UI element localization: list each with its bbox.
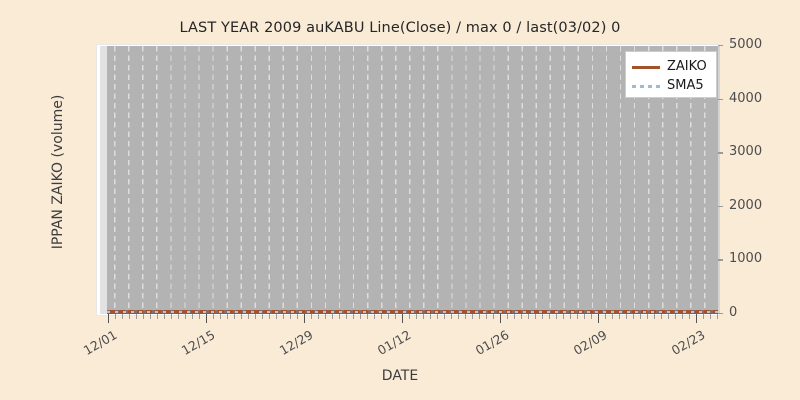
x-tick-minor bbox=[122, 314, 123, 319]
x-tick-minor bbox=[493, 314, 494, 319]
x-tick-minor bbox=[192, 314, 193, 319]
x-tick-minor bbox=[346, 314, 347, 319]
x-tick-minor bbox=[290, 314, 291, 319]
x-tick-minor bbox=[171, 314, 172, 319]
x-tick-major bbox=[206, 314, 207, 323]
x-tick-minor bbox=[689, 314, 690, 319]
chart-legend[interactable]: ZAIKO SMA5 bbox=[625, 51, 717, 98]
x-tick-minor bbox=[199, 314, 200, 319]
x-tick-minor bbox=[556, 314, 557, 319]
x-tick-label: 02/09 bbox=[560, 327, 609, 364]
x-tick-minor bbox=[213, 314, 214, 319]
legend-label-zaiko: ZAIKO bbox=[667, 59, 707, 74]
x-tick-minor bbox=[535, 314, 536, 319]
x-tick-minor bbox=[283, 314, 284, 319]
x-tick-minor bbox=[234, 314, 235, 319]
x-tick-minor bbox=[577, 314, 578, 319]
x-tick-minor bbox=[136, 314, 137, 319]
legend-item-sma5[interactable]: SMA5 bbox=[632, 76, 710, 95]
x-tick-label: 12/15 bbox=[168, 327, 217, 364]
x-tick-minor bbox=[430, 314, 431, 319]
x-tick-minor bbox=[325, 314, 326, 319]
x-tick-minor bbox=[297, 314, 298, 319]
x-tick-minor bbox=[605, 314, 606, 319]
x-axis: 12/0112/1512/2901/1201/2602/0902/23 bbox=[100, 314, 718, 374]
y-tick-label: 5000 bbox=[729, 37, 762, 52]
x-tick-minor bbox=[654, 314, 655, 319]
chart-title: LAST YEAR 2009 auKABU Line(Close) / max … bbox=[0, 20, 800, 36]
x-tick-minor bbox=[626, 314, 627, 319]
x-tick-minor bbox=[591, 314, 592, 319]
x-tick-minor bbox=[619, 314, 620, 319]
x-tick-minor bbox=[528, 314, 529, 319]
x-tick-major bbox=[598, 314, 599, 323]
x-tick-minor bbox=[416, 314, 417, 319]
x-tick-minor bbox=[675, 314, 676, 319]
x-tick-minor bbox=[395, 314, 396, 319]
x-axis-label: DATE bbox=[0, 368, 800, 384]
x-tick-minor bbox=[521, 314, 522, 319]
x-tick-minor bbox=[178, 314, 179, 319]
x-tick-minor bbox=[129, 314, 130, 319]
y-tick-mark bbox=[718, 99, 723, 100]
y-tick-mark bbox=[718, 206, 723, 207]
x-tick-minor bbox=[486, 314, 487, 319]
chart-figure: LAST YEAR 2009 auKABU Line(Close) / max … bbox=[0, 0, 800, 400]
x-tick-minor bbox=[458, 314, 459, 319]
y-tick-label: 1000 bbox=[729, 251, 762, 266]
x-tick-minor bbox=[437, 314, 438, 319]
x-tick-minor bbox=[647, 314, 648, 319]
x-tick-major bbox=[108, 314, 109, 323]
x-tick-minor bbox=[339, 314, 340, 319]
x-tick-minor bbox=[367, 314, 368, 319]
y-tick-mark bbox=[718, 45, 723, 46]
x-tick-major bbox=[500, 314, 501, 323]
x-tick-minor bbox=[241, 314, 242, 319]
x-tick-label: 01/26 bbox=[462, 327, 511, 364]
x-tick-minor bbox=[640, 314, 641, 319]
y-axis: 010002000300040005000 bbox=[718, 46, 798, 314]
x-tick-minor bbox=[444, 314, 445, 319]
x-tick-minor bbox=[542, 314, 543, 319]
y-tick-label: 4000 bbox=[729, 91, 762, 106]
x-tick-minor bbox=[360, 314, 361, 319]
x-tick-minor bbox=[514, 314, 515, 319]
x-tick-minor bbox=[276, 314, 277, 319]
x-tick-minor bbox=[633, 314, 634, 319]
x-tick-minor bbox=[703, 314, 704, 319]
x-tick-minor bbox=[472, 314, 473, 319]
x-tick-minor bbox=[150, 314, 151, 319]
legend-swatch-sma5-icon bbox=[632, 81, 660, 91]
x-tick-minor bbox=[479, 314, 480, 319]
x-tick-minor bbox=[563, 314, 564, 319]
x-tick-label: 02/23 bbox=[658, 327, 707, 364]
x-tick-major bbox=[304, 314, 305, 323]
x-tick-minor bbox=[465, 314, 466, 319]
y-tick-label: 0 bbox=[729, 305, 737, 320]
legend-item-zaiko[interactable]: ZAIKO bbox=[632, 57, 710, 76]
x-tick-minor bbox=[227, 314, 228, 319]
series-line-sma5 bbox=[107, 311, 718, 313]
x-tick-minor bbox=[262, 314, 263, 319]
x-tick-minor bbox=[374, 314, 375, 319]
x-tick-minor bbox=[710, 314, 711, 319]
x-tick-minor bbox=[332, 314, 333, 319]
x-tick-minor bbox=[255, 314, 256, 319]
x-tick-minor bbox=[717, 314, 718, 319]
x-tick-minor bbox=[185, 314, 186, 319]
legend-swatch-zaiko-icon bbox=[632, 62, 660, 72]
y-axis-label: IPPAN ZAIKO (volume) bbox=[50, 72, 66, 272]
x-tick-minor bbox=[570, 314, 571, 319]
y-tick-label: 3000 bbox=[729, 144, 762, 159]
x-tick-minor bbox=[318, 314, 319, 319]
y-tick-mark bbox=[718, 313, 723, 314]
x-tick-minor bbox=[584, 314, 585, 319]
x-tick-label: 12/01 bbox=[70, 327, 119, 364]
x-tick-label: 01/12 bbox=[364, 327, 413, 364]
x-tick-minor bbox=[353, 314, 354, 319]
x-tick-minor bbox=[157, 314, 158, 319]
x-tick-major bbox=[402, 314, 403, 323]
x-tick-minor bbox=[612, 314, 613, 319]
x-tick-label: 12/29 bbox=[266, 327, 315, 364]
x-tick-minor bbox=[220, 314, 221, 319]
y-tick-mark bbox=[718, 259, 723, 260]
plot-left-band bbox=[100, 46, 107, 314]
x-tick-minor bbox=[311, 314, 312, 319]
x-tick-minor bbox=[507, 314, 508, 319]
x-tick-minor bbox=[388, 314, 389, 319]
x-tick-minor bbox=[381, 314, 382, 319]
y-tick-label: 2000 bbox=[729, 198, 762, 213]
x-tick-minor bbox=[143, 314, 144, 319]
x-tick-minor bbox=[269, 314, 270, 319]
x-tick-minor bbox=[248, 314, 249, 319]
y-tick-mark bbox=[718, 152, 723, 153]
x-tick-minor bbox=[549, 314, 550, 319]
x-tick-minor bbox=[423, 314, 424, 319]
x-tick-minor bbox=[661, 314, 662, 319]
x-tick-minor bbox=[115, 314, 116, 319]
x-tick-minor bbox=[164, 314, 165, 319]
x-tick-minor bbox=[682, 314, 683, 319]
legend-label-sma5: SMA5 bbox=[667, 78, 704, 93]
x-tick-major bbox=[696, 314, 697, 323]
x-tick-minor bbox=[668, 314, 669, 319]
x-tick-minor bbox=[409, 314, 410, 319]
x-tick-minor bbox=[451, 314, 452, 319]
